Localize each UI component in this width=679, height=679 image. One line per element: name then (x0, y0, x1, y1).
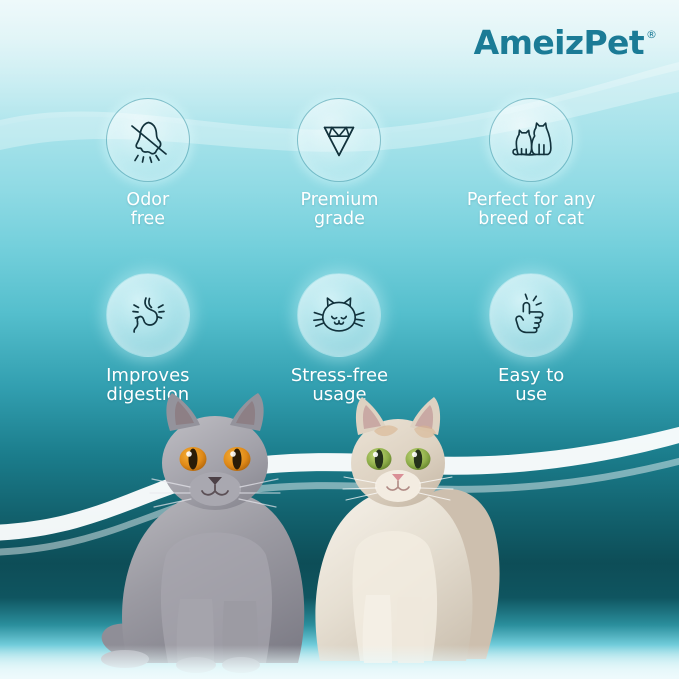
feature-caption: Perfect for any breed of cat (467, 191, 596, 229)
feature-icon-circle (106, 273, 190, 357)
feature-icon-circle (489, 98, 573, 182)
feature-caption: Odor free (126, 191, 169, 229)
feature-premium-grade: Premium grade (244, 98, 436, 229)
nose-no-smell-icon (122, 114, 174, 166)
stomach-icon (122, 289, 174, 341)
feature-caption: Premium grade (301, 191, 379, 229)
cat-face-happy-icon (311, 287, 367, 343)
feature-any-breed: Perfect for any breed of cat (435, 98, 627, 229)
brand-logo: AmeizPet ® (474, 26, 657, 59)
feature-icon-circle (297, 98, 381, 182)
feature-odor-free: Odor free (52, 98, 244, 229)
cream-longhair-cat (315, 397, 499, 663)
brand-name: AmeizPet (474, 26, 644, 59)
cats-photo (0, 359, 679, 679)
tapping-hand-icon (506, 290, 556, 340)
feature-icon-circle (489, 273, 573, 357)
product-infographic: AmeizPet ® Odor free (0, 0, 679, 679)
two-cats-icon (504, 113, 558, 167)
feature-icon-circle (297, 273, 381, 357)
grey-british-shorthair-cat (101, 393, 304, 673)
trademark-symbol: ® (646, 28, 657, 41)
feature-icon-circle (106, 98, 190, 182)
diamond-icon (314, 115, 364, 165)
